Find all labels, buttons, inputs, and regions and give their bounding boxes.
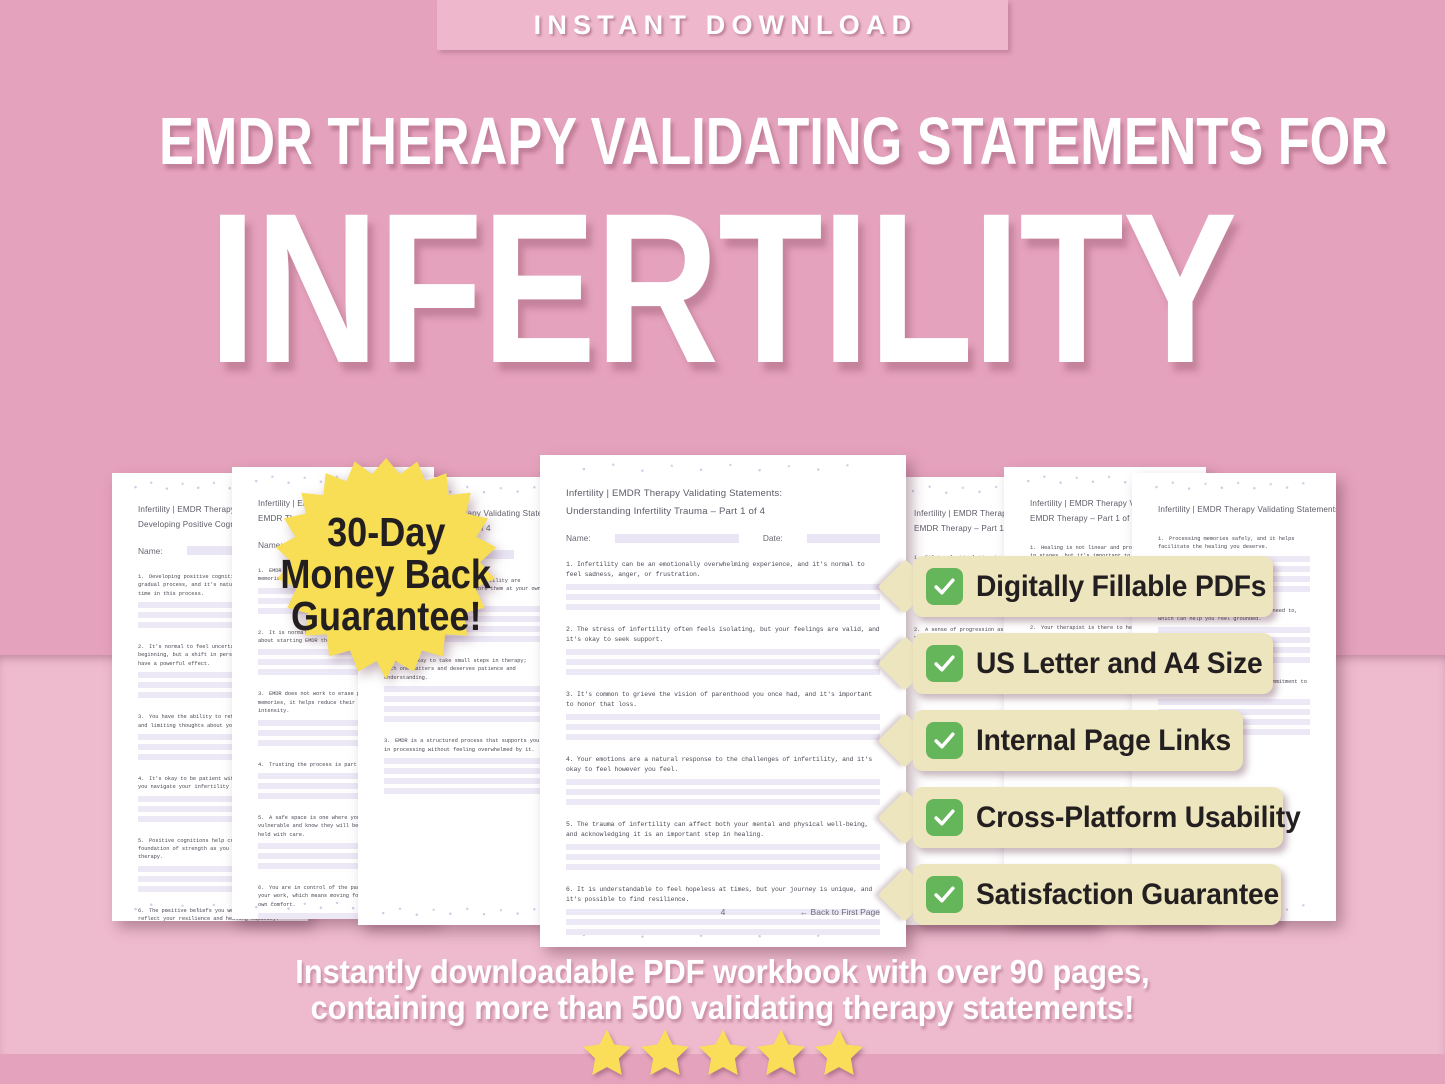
feature-list: Digitally Fillable PDFs US Letter and A4… — [886, 556, 1286, 941]
answer-lines[interactable] — [566, 649, 880, 675]
date-label: Date: — [763, 533, 783, 543]
doc-header-line1: Infertility | EMDR Therapy Validating St… — [566, 485, 880, 503]
item-text: EMDR is a structured process that suppor… — [384, 738, 539, 752]
doc-meta-row: Name: Date: — [566, 533, 880, 543]
feature-label: Satisfaction Guarantee — [976, 878, 1279, 912]
item-text: Infertility can be an emotionally overwh… — [566, 561, 865, 578]
item-number: 3. — [384, 737, 395, 745]
footer-line-1: Instantly downloadable PDF workbook with… — [51, 954, 1395, 990]
check-icon — [926, 876, 963, 913]
feature-label: US Letter and A4 Size — [976, 647, 1262, 681]
item-text: Your emotions are a natural response to … — [566, 756, 872, 773]
name-label: Name: — [566, 533, 591, 543]
rating-stars — [0, 1026, 1445, 1078]
item-text: It's common to grieve the vision of pare… — [566, 691, 872, 708]
date-field[interactable] — [807, 534, 880, 543]
star-icon — [813, 1026, 865, 1078]
item-number: 3. — [138, 713, 149, 721]
answer-lines[interactable] — [566, 714, 880, 740]
page-number: 4 — [721, 907, 726, 917]
check-icon — [926, 799, 963, 836]
feature-item-digitally-fillable-pdfs[interactable]: Digitally Fillable PDFs — [886, 556, 1286, 617]
feature-item-us-letter-and-a4-size[interactable]: US Letter and A4 Size — [886, 633, 1286, 694]
star-icon — [581, 1026, 633, 1078]
item-text: The stress of infertility often feels is… — [566, 626, 880, 643]
star-icon — [755, 1026, 807, 1078]
page-title: INFERTILITY — [145, 182, 1301, 396]
starburst-icon — [260, 458, 512, 690]
item-number: 6. — [566, 885, 577, 895]
item-number: 4. — [258, 761, 269, 769]
list-item: 2.The stress of infertility often feels … — [566, 625, 880, 675]
item-number: 3. — [566, 690, 577, 700]
headline-subtitle: EMDR THERAPY VALIDATING STATEMENTS FOR — [159, 108, 1286, 175]
feature-item-satisfaction-guarantee[interactable]: Satisfaction Guarantee — [886, 864, 1286, 925]
item-number: 4. — [138, 775, 149, 783]
document-page-center: Infertility | EMDR Therapy Validating St… — [540, 455, 906, 947]
feature-label: Internal Page Links — [976, 724, 1231, 758]
answer-lines[interactable] — [566, 779, 880, 805]
item-number: 5. — [566, 820, 577, 830]
instant-download-label: INSTANT DOWNLOAD — [528, 10, 918, 41]
item-number: 4. — [566, 755, 577, 765]
back-to-first-page-link[interactable]: ← Back to First Page — [800, 907, 880, 917]
footer-line-2: containing more than 500 validating ther… — [51, 990, 1395, 1026]
item-number: 2. — [566, 625, 577, 635]
instant-download-banner: INSTANT DOWNLOAD — [437, 0, 1008, 50]
answer-lines[interactable] — [566, 584, 880, 610]
item-number: 5. — [258, 814, 269, 822]
doc-header-line2: Understanding Infertility Trauma – Part … — [566, 503, 880, 521]
item-number: 1. — [566, 560, 577, 570]
poster-canvas: INSTANT DOWNLOAD EMDR THERAPY VALIDATING… — [0, 0, 1445, 1084]
feature-label: Digitally Fillable PDFs — [976, 570, 1266, 604]
check-icon — [926, 568, 963, 605]
item-number: 1. — [138, 573, 149, 581]
list-item: 3.It's common to grieve the vision of pa… — [566, 690, 880, 740]
name-field[interactable] — [615, 534, 739, 543]
item-text: Processing memories safely, and it helps… — [1158, 536, 1294, 550]
list-item: 4.Your emotions are a natural response t… — [566, 755, 880, 805]
item-number: 6. — [258, 884, 269, 892]
item-number: 3. — [258, 690, 269, 698]
check-icon — [926, 645, 963, 682]
item-text: It is understandable to feel hopeless at… — [566, 886, 872, 903]
list-item: 5.The trauma of infertility can affect b… — [566, 820, 880, 870]
item-number: 1. — [1030, 544, 1041, 552]
star-icon — [697, 1026, 749, 1078]
answer-lines[interactable] — [566, 844, 880, 870]
doc-footer: 4 ← Back to First Page — [566, 907, 880, 917]
feature-item-internal-page-links[interactable]: Internal Page Links — [886, 710, 1286, 771]
item-number: 5. — [138, 837, 149, 845]
item-number: 1. — [1158, 535, 1169, 543]
star-icon — [639, 1026, 691, 1078]
answer-lines[interactable] — [384, 758, 542, 794]
answer-lines[interactable] — [384, 686, 542, 722]
feature-item-cross-platform-usability[interactable]: Cross-Platform Usability — [886, 787, 1286, 848]
list-item: 3.EMDR is a structured process that supp… — [384, 737, 542, 794]
statement-list: 1.Infertility can be an emotionally over… — [566, 560, 880, 934]
item-text: The trauma of infertility can affect bot… — [566, 821, 868, 838]
footer-description: Instantly downloadable PDF workbook with… — [0, 954, 1445, 1025]
feature-label: Cross-Platform Usability — [976, 801, 1301, 835]
money-back-guarantee-badge: 30-Day Money Back Guarantee! — [260, 458, 512, 690]
list-item: 1.Infertility can be an emotionally over… — [566, 560, 880, 610]
check-icon — [926, 722, 963, 759]
name-label: Name: — [138, 546, 163, 556]
item-number: 2. — [138, 643, 149, 651]
item-number: 6. — [138, 907, 149, 915]
doc-header-line1: Infertility | EMDR Therapy Validating St… — [1158, 503, 1310, 518]
